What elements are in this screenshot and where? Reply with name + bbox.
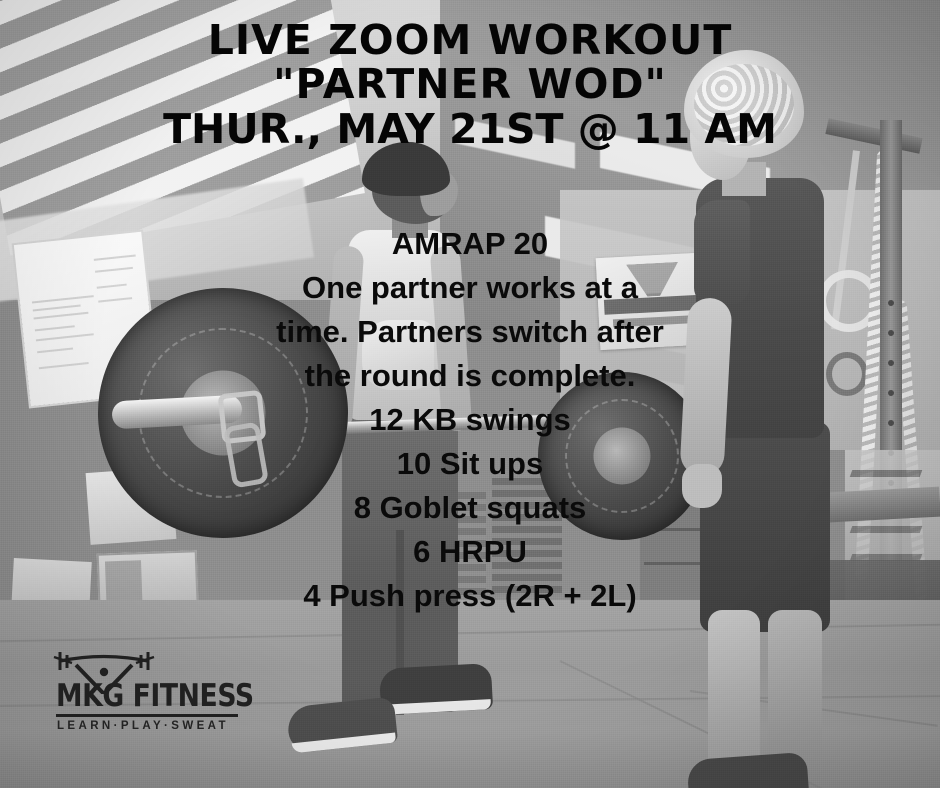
headline-line-2: "PARTNER WOD" xyxy=(0,62,940,106)
brand-logo: MKG FITNESS LEARN·PLAY·SWEAT xyxy=(26,648,242,744)
movement-item: 6 HRPU xyxy=(0,530,940,574)
workout-poster: LIVE ZOOM WORKOUT "PARTNER WOD" THUR., M… xyxy=(0,0,940,788)
movement-item: 4 Push press (2R + 2L) xyxy=(0,574,940,618)
workout-format: AMRAP 20 xyxy=(0,222,940,266)
headline-line-1: LIVE ZOOM WORKOUT xyxy=(0,18,940,62)
poster-headline: LIVE ZOOM WORKOUT "PARTNER WOD" THUR., M… xyxy=(0,18,940,151)
text-overlay: LIVE ZOOM WORKOUT "PARTNER WOD" THUR., M… xyxy=(0,0,940,788)
workout-instructions-line-3: the round is complete. xyxy=(0,354,940,398)
workout-details: AMRAP 20 One partner works at a time. Pa… xyxy=(0,222,940,618)
logo-tagline: LEARN·PLAY·SWEAT xyxy=(57,720,247,732)
movement-item: 8 Goblet squats xyxy=(0,486,940,530)
workout-instructions-line-2: time. Partners switch after xyxy=(0,310,940,354)
movement-item: 10 Sit ups xyxy=(0,442,940,486)
workout-instructions-line-1: One partner works at a xyxy=(0,266,940,310)
logo-divider xyxy=(56,714,238,717)
logo-wordmark: MKG FITNESS xyxy=(56,678,216,714)
headline-line-3: THUR., MAY 21ST @ 11 AM xyxy=(0,107,940,151)
movement-item: 12 KB swings xyxy=(0,398,940,442)
